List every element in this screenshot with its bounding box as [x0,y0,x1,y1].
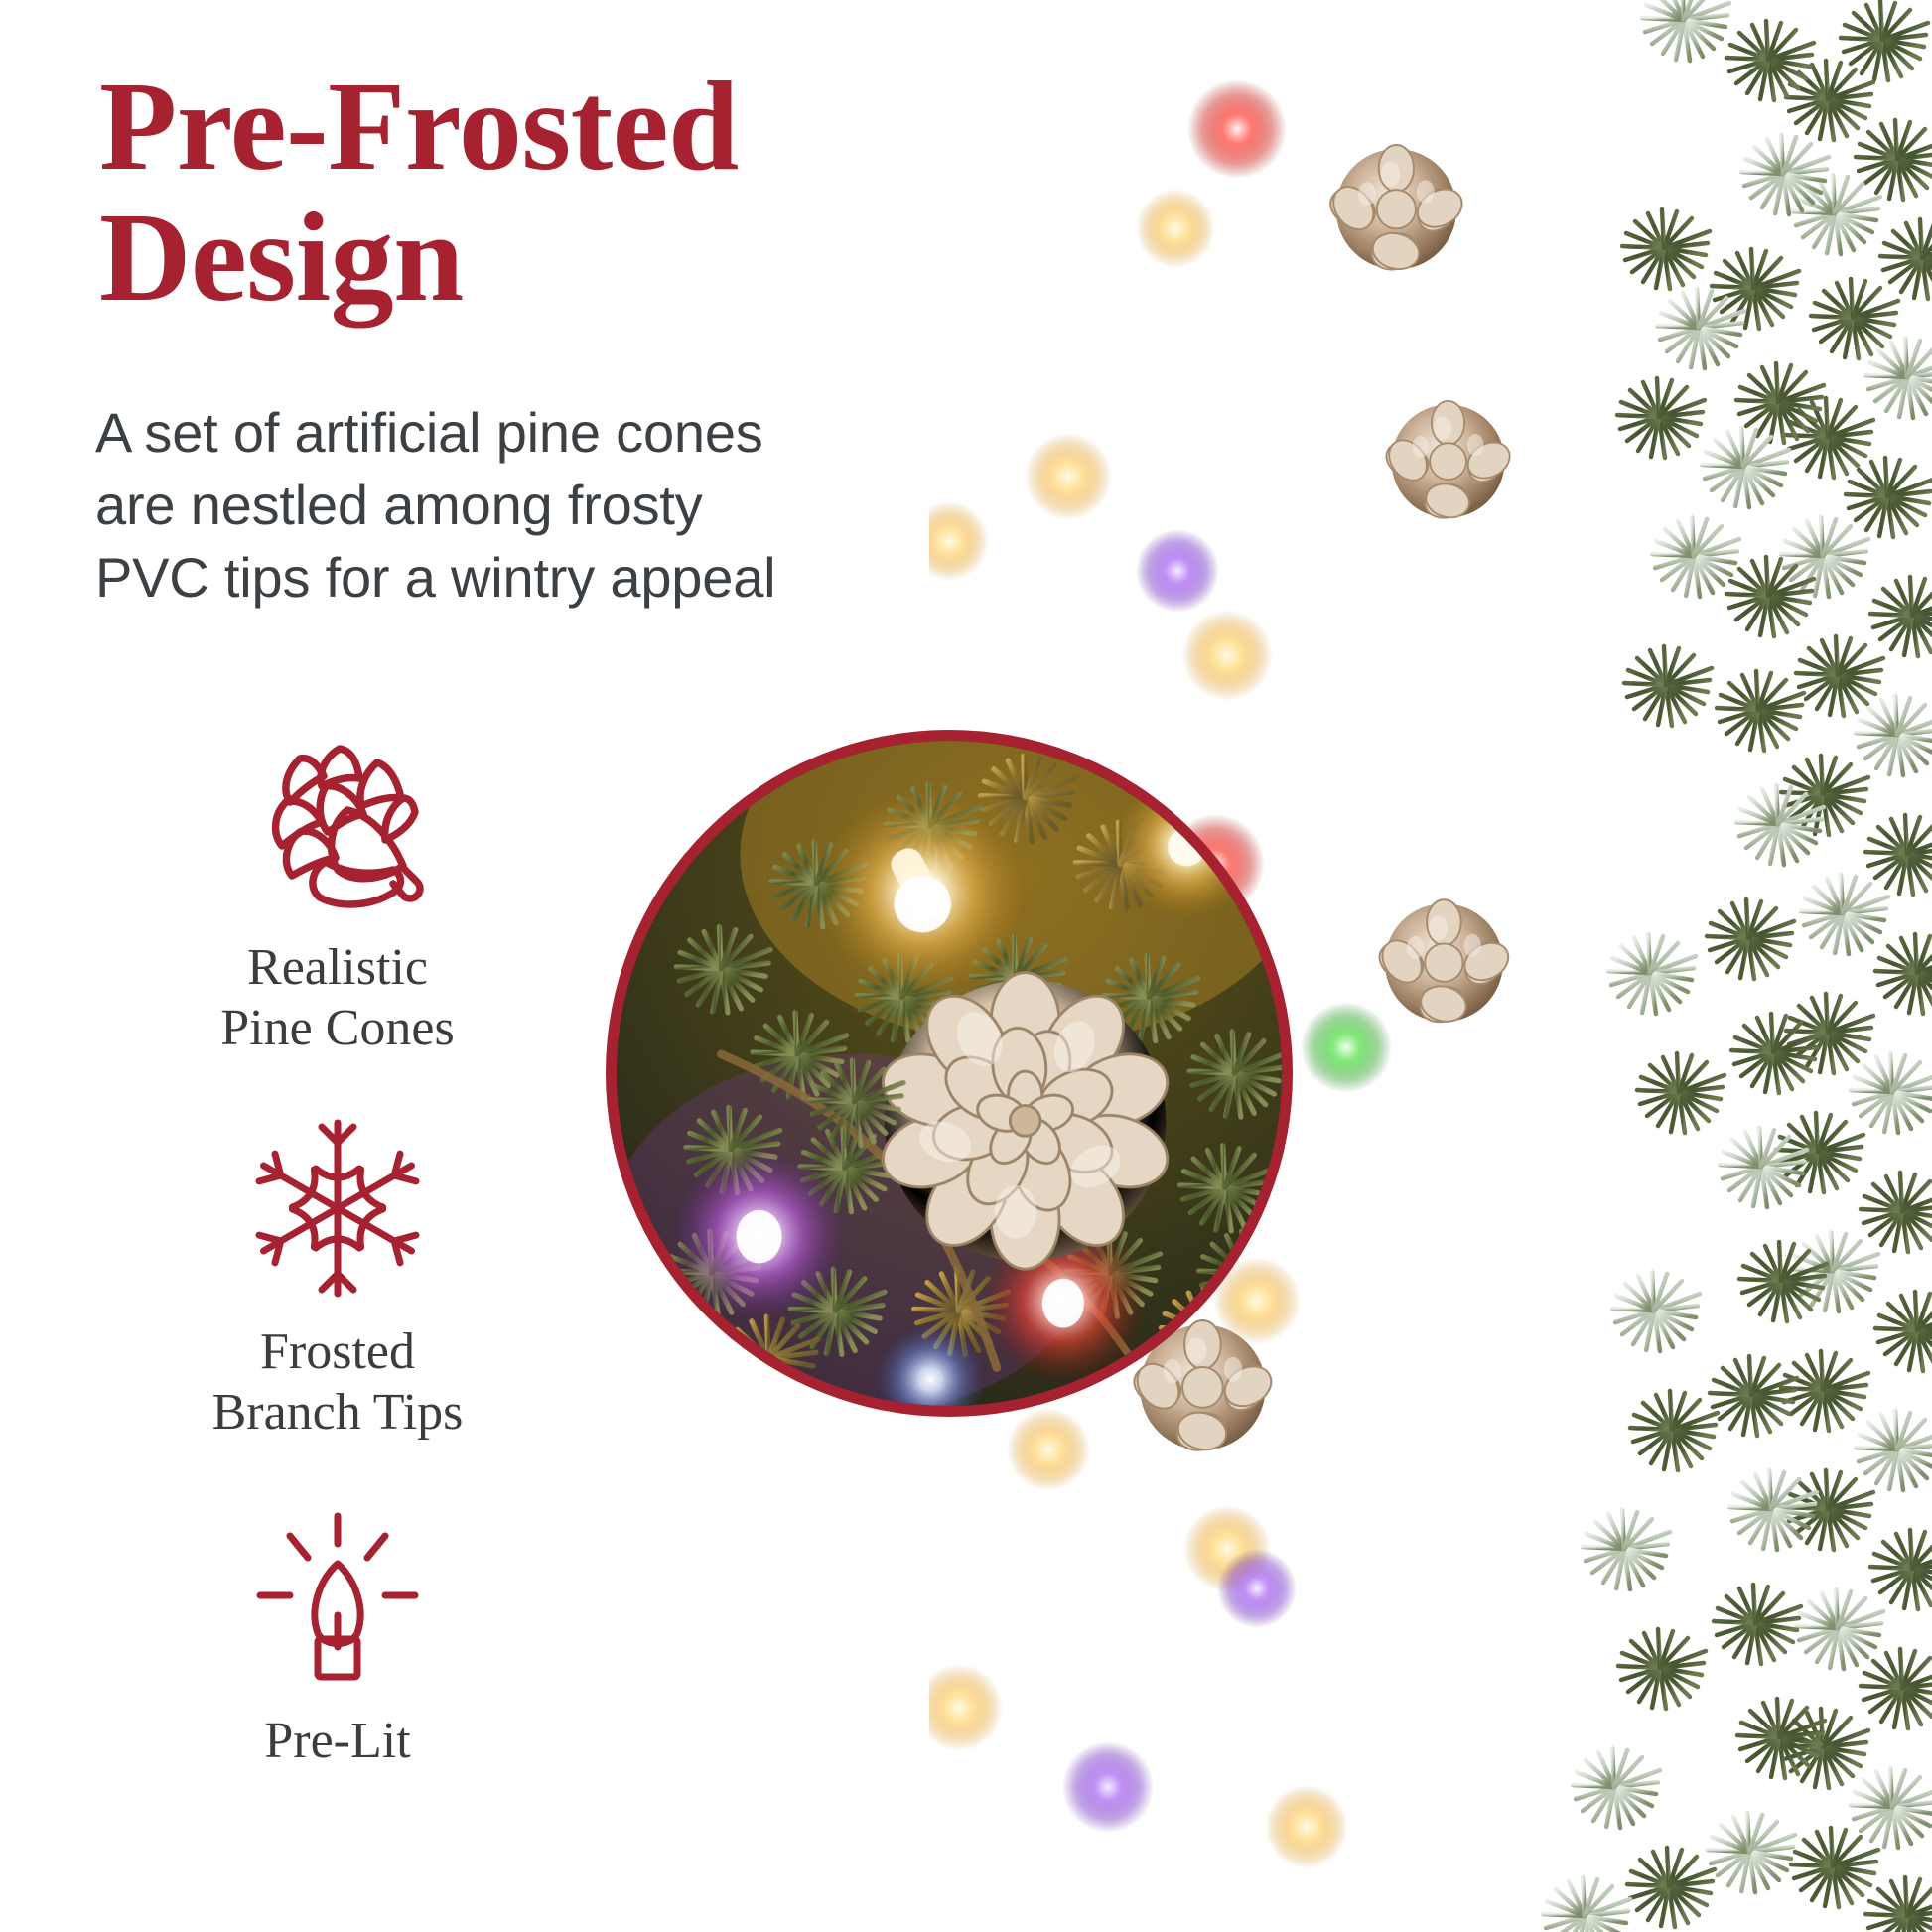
feature-item-pre-lit: Pre-Lit [60,1498,616,1771]
snowflake-icon [238,1109,437,1308]
inset-photo-circle [606,730,1293,1417]
feature-label-pine-cones: Realistic Pine Cones [60,937,616,1059]
pine-cone-icon [238,725,437,923]
light-bulb-icon [238,1498,437,1697]
feature-item-frosted-tips: Frosted Branch Tips [60,1109,616,1444]
description-text: A set of artificial pine cones are nestl… [95,397,890,614]
feature-item-pine-cones: Realistic Pine Cones [60,725,616,1059]
feature-list: Realistic Pine Cones [60,725,616,1788]
feature-label-frosted-tips: Frosted Branch Tips [60,1321,616,1444]
inset-photo-image [617,741,1282,1406]
product-feature-graphic: Pre-Frosted Design A set of artificial p… [0,0,1932,1932]
feature-label-pre-lit: Pre-Lit [60,1711,616,1771]
page-title: Pre-Frosted Design [99,62,913,324]
